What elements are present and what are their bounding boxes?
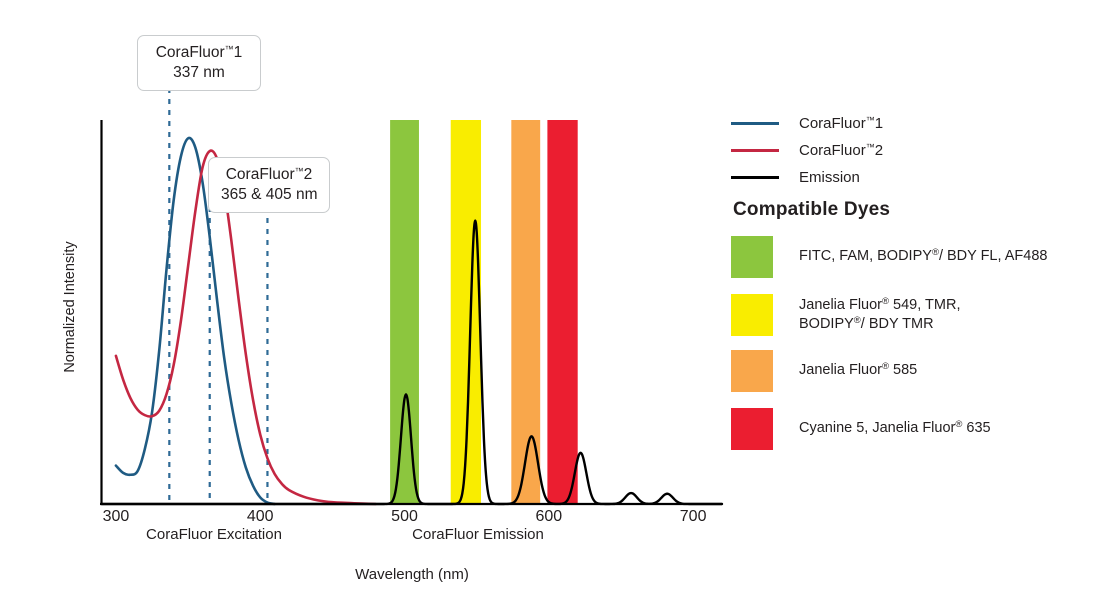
x-tick-label-300: 300	[103, 508, 130, 526]
x-tick-label-500: 500	[391, 508, 418, 526]
legend-item-label: CoraFluor™1	[799, 115, 883, 132]
y-axis-title: Normalized Intensity	[62, 241, 78, 372]
dye-item-2: Janelia Fluor® 549, TMR,BODIPY®/ BDY TMR	[731, 294, 1091, 336]
callout-cf1-line2: 337 nm	[150, 63, 248, 83]
legend-item-3: Emission	[731, 164, 1071, 191]
dye-color-swatch	[731, 294, 773, 336]
legend-item-1: CoraFluor™1	[731, 110, 1071, 137]
dye-color-swatch	[731, 408, 773, 450]
chart-figure: CoraFluor™1 337 nm CoraFluor™2 365 & 405…	[0, 0, 1110, 612]
legend-line-swatch	[731, 122, 779, 125]
x-tick-label-400: 400	[247, 508, 274, 526]
dye-item-label: Cyanine 5, Janelia Fluor® 635	[799, 419, 991, 438]
legend-item-label: Emission	[799, 169, 860, 186]
x-axis-title: Wavelength (nm)	[355, 566, 469, 583]
legend-line-swatch	[731, 176, 779, 179]
compatible-dyes-list: FITC, FAM, BODIPY®/ BDY FL, AF488Janelia…	[731, 236, 1091, 450]
axis-section-excitation: CoraFluor Excitation	[146, 526, 282, 543]
axis-section-emission: CoraFluor Emission	[412, 526, 544, 543]
callout-cf2-line2: 365 & 405 nm	[221, 185, 317, 205]
dye-item-1: FITC, FAM, BODIPY®/ BDY FL, AF488	[731, 236, 1091, 278]
callout-corafluor-2: CoraFluor™2 365 & 405 nm	[208, 157, 330, 213]
dye-color-swatch	[731, 236, 773, 278]
legend-item-label: CoraFluor™2	[799, 142, 883, 159]
dye-item-4: Cyanine 5, Janelia Fluor® 635	[731, 408, 1091, 450]
compatible-dyes-title: Compatible Dyes	[733, 199, 1091, 221]
chart-legend: CoraFluor™1CoraFluor™2Emission	[731, 110, 1071, 191]
callout-corafluor-1: CoraFluor™1 337 nm	[137, 35, 261, 91]
legend-item-2: CoraFluor™2	[731, 137, 1071, 164]
callout-cf1-line1: CoraFluor™1	[150, 43, 248, 63]
callout-cf2-line1: CoraFluor™2	[221, 165, 317, 185]
dye-item-label: FITC, FAM, BODIPY®/ BDY FL, AF488	[799, 247, 1047, 266]
dye-item-label: Janelia Fluor® 585	[799, 361, 917, 380]
x-tick-label-600: 600	[535, 508, 562, 526]
dye-item-3: Janelia Fluor® 585	[731, 350, 1091, 392]
green-band	[390, 120, 419, 504]
compatible-dyes-panel: Compatible Dyes FITC, FAM, BODIPY®/ BDY …	[731, 199, 1091, 466]
x-tick-label-700: 700	[680, 508, 707, 526]
red-band	[547, 120, 577, 504]
legend-line-swatch	[731, 149, 779, 152]
dye-item-label: Janelia Fluor® 549, TMR,BODIPY®/ BDY TMR	[799, 296, 960, 335]
dye-color-swatch	[731, 350, 773, 392]
